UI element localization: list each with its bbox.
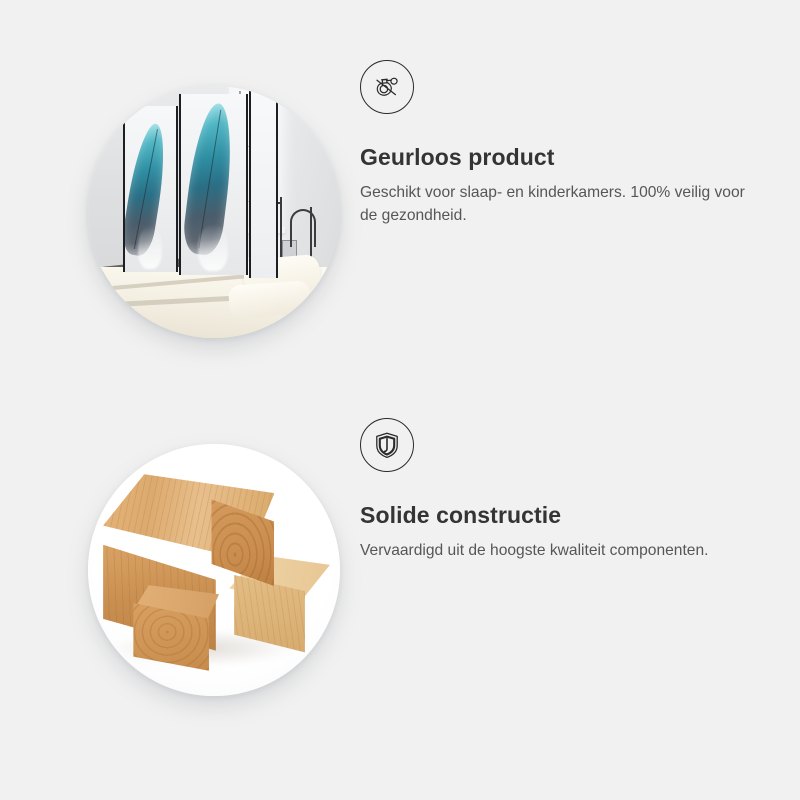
feature-copy-odourless-product: Geurloos product Geschikt voor slaap- en… [360,60,760,227]
feature-list-page: Geurloos product Geschikt voor slaap- en… [0,0,800,800]
feature-description: Geschikt voor slaap- en kinderkamers. 10… [360,181,752,228]
feature-copy-solid-construction: Solide constructie Vervaardigd uit de ho… [360,418,760,562]
pillow-front [228,280,311,318]
feature-title: Geurloos product [360,144,760,172]
no-fragrance-icon [360,60,414,114]
canvas-panel-left [123,106,177,272]
shield-icon [360,418,414,472]
feature-title: Solide constructie [360,502,760,530]
lamp-pole [280,197,282,263]
feature-block-solid-construction: Solide constructie Vervaardigd uit de ho… [0,418,800,778]
canvas-panel-right [249,91,278,277]
feather-wisp-left [138,226,161,269]
canvas-panel-center [179,94,249,275]
wood-scene [88,444,340,696]
feature-image-odourless-product [88,86,340,338]
no-fragrance-glyph [370,70,404,104]
bedroom-scene [88,86,340,338]
wooden-beams-photo [88,444,340,696]
bedroom-feather-canvas-photo [88,86,340,338]
shield-glyph [371,429,403,461]
feature-description: Vervaardigd uit de hoogste kwaliteit com… [360,539,752,562]
feature-image-solid-construction [88,444,340,696]
feature-block-odourless-product: Geurloos product Geschikt voor slaap- en… [0,60,800,420]
arc-lamp-hook [290,209,317,246]
feather-wisp-center [198,224,228,271]
